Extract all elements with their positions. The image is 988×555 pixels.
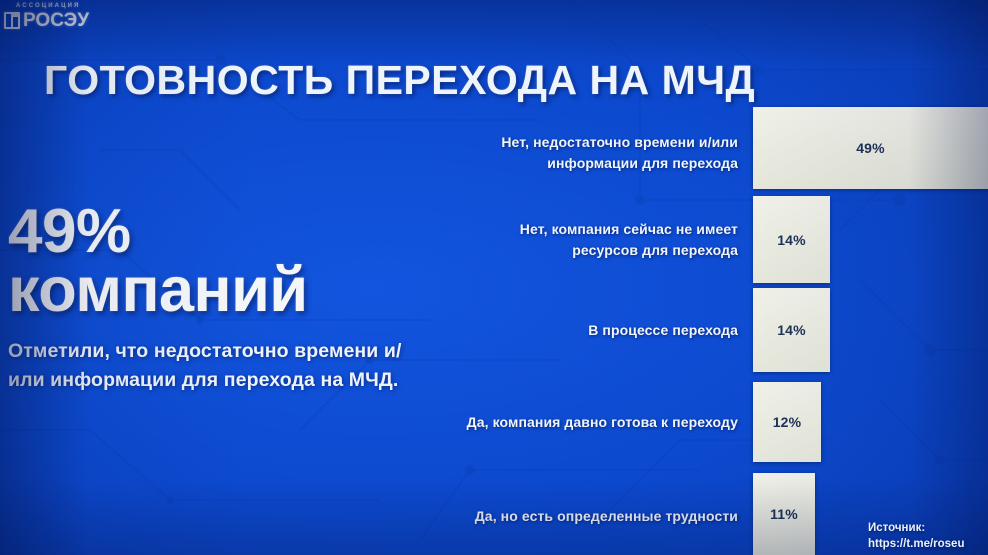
bar-category-label: Да, но есть определенные трудности — [358, 506, 738, 527]
bar-value-label: 11% — [770, 506, 798, 522]
page-title: ГОТОВНОСТЬ ПЕРЕХОДА НА МЧД — [44, 57, 755, 104]
highlight-block: 49% компаний Отметили, что недостаточно … — [8, 203, 428, 395]
source-url[interactable]: https://t.me/roseu — [868, 536, 988, 552]
logo-name-text: РОСЭУ — [23, 11, 89, 30]
roseu-logo: АССОЦИАЦИЯ РОСЭУ — [4, 2, 100, 36]
bar-category-label: Да, компания давно готова к переходу — [358, 412, 738, 433]
source-note: Источник: https://t.me/roseu — [868, 520, 988, 555]
bar-value-label: 14% — [777, 232, 806, 248]
logo-row: РОСЭУ — [4, 11, 100, 30]
bar-rect[interactable]: 14% — [753, 288, 830, 372]
source-label: Источник: — [868, 520, 988, 536]
highlight-percentage: 49% — [8, 203, 428, 261]
presentation-slide: АССОЦИАЦИЯ РОСЭУ ГОТОВНОСТЬ ПЕРЕХОДА НА … — [0, 0, 988, 555]
logo-association-text: АССОЦИАЦИЯ — [16, 2, 100, 10]
highlight-word: компаний — [8, 261, 428, 319]
building-mark-icon — [4, 12, 20, 29]
highlight-description: Отметили, что недостаточно времени и/или… — [8, 337, 428, 395]
bar-rect[interactable]: 11% — [753, 473, 815, 555]
bar-rect[interactable]: 49% — [753, 107, 988, 189]
bar-category-label: Нет, недостаточно времени и/илиинформаци… — [358, 132, 738, 174]
bar-label-line-1: Нет, недостаточно времени и/или — [358, 132, 738, 153]
bar-rect[interactable]: 14% — [753, 196, 830, 283]
bar-value-label: 14% — [777, 322, 806, 338]
bar-rect[interactable]: 12% — [753, 382, 821, 462]
bar-value-label: 12% — [773, 414, 802, 430]
bar-value-label: 49% — [856, 140, 885, 156]
bar-label-line-2: информации для перехода — [358, 153, 738, 174]
